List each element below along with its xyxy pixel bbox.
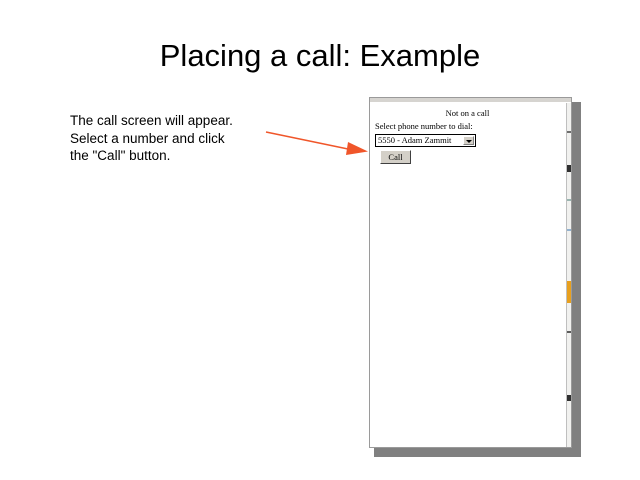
call-status-text: Not on a call bbox=[375, 108, 560, 119]
scrollbar-mark bbox=[567, 165, 572, 172]
embedded-screenshot: Not on a call Select phone number to dia… bbox=[369, 97, 572, 448]
pointer-arrow-icon bbox=[262, 124, 372, 162]
arrow-head bbox=[346, 142, 368, 155]
page-title: Placing a call: Example bbox=[0, 38, 640, 74]
scrollbar-mark bbox=[567, 131, 572, 133]
scrollbar-thumb[interactable] bbox=[567, 281, 572, 303]
body-text-line-3: the "Call" button. bbox=[70, 147, 270, 165]
arrow-shaft bbox=[266, 132, 348, 149]
chevron-down-icon[interactable] bbox=[463, 136, 474, 145]
phone-number-select[interactable]: 5550 - Adam Zammit bbox=[375, 134, 476, 147]
scrollbar-mark bbox=[567, 199, 572, 201]
scrollbar-mark bbox=[567, 229, 572, 231]
panel-shadow-right bbox=[572, 102, 581, 453]
call-screen-content: Not on a call Select phone number to dia… bbox=[370, 103, 565, 447]
scrollbar-mark bbox=[567, 395, 572, 401]
slide-canvas: Placing a call: Example The call screen … bbox=[0, 0, 640, 480]
body-text-line-1: The call screen will appear. bbox=[70, 112, 270, 130]
dial-label: Select phone number to dial: bbox=[375, 121, 560, 132]
panel-shadow-bottom bbox=[374, 448, 581, 457]
call-button[interactable]: Call bbox=[380, 150, 411, 164]
body-text-block: The call screen will appear. Select a nu… bbox=[70, 112, 270, 165]
scrollbar-mark bbox=[567, 331, 572, 333]
body-text-line-2: Select a number and click bbox=[70, 130, 270, 148]
vertical-scrollbar[interactable] bbox=[566, 103, 571, 448]
phone-number-select-value: 5550 - Adam Zammit bbox=[378, 135, 451, 146]
browser-window-frame: Not on a call Select phone number to dia… bbox=[369, 97, 572, 448]
